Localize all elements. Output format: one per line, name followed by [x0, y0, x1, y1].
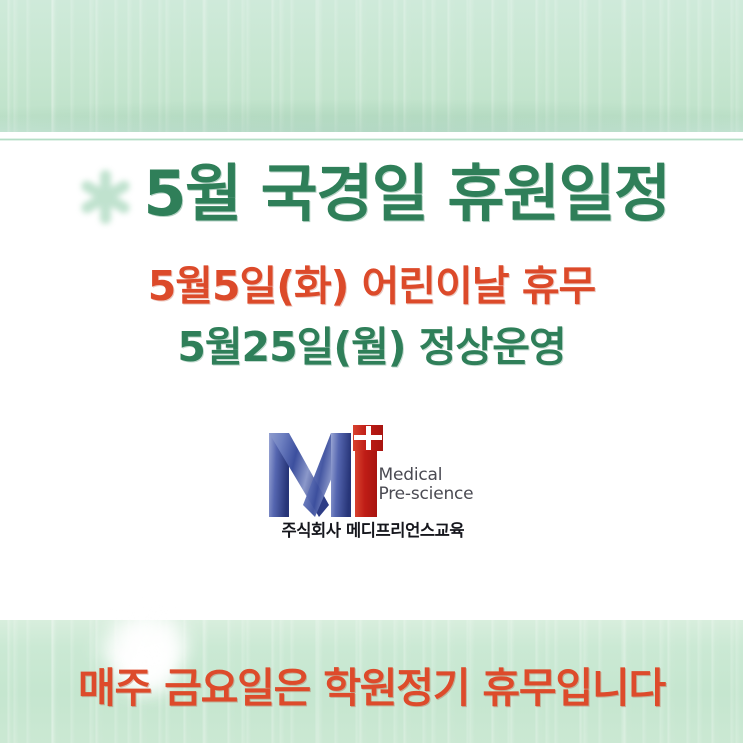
- banner-shade: [0, 72, 743, 132]
- holiday-notice-poster: 5월 국경일 휴원일정 5월5일(화) 어린이날 휴무 5월25일(월) 정상운…: [0, 0, 743, 743]
- asterisk-flower-icon: [73, 165, 137, 229]
- company-logo: Medical Pre-science 주식회사 메디프리언스교육: [0, 425, 743, 540]
- schedule-line-open: 5월25일(월) 정상운영: [0, 327, 743, 368]
- poster-content: 5월 국경일 휴원일정 5월5일(화) 어린이날 휴무 5월25일(월) 정상운…: [0, 141, 743, 620]
- title-row: 5월 국경일 휴원일정: [0, 159, 743, 229]
- logo-wordmark: Medical Pre-science: [379, 466, 474, 504]
- page-title: 5월 국경일 휴원일정: [143, 163, 669, 225]
- logo-company-name: 주식회사 메디프리언스교육: [282, 517, 465, 541]
- banner-texture-streaks: [0, 0, 743, 132]
- top-banner: [0, 0, 743, 132]
- schedule-line-holiday: 5월5일(화) 어린이날 휴무: [0, 266, 743, 307]
- banner-texture-streaks-soft: [0, 0, 743, 132]
- weekly-closure-notice: 매주 금요일은 학원정기 휴무입니다: [0, 668, 743, 709]
- logo-mark-mi-icon: [267, 425, 387, 517]
- logo-word-medical: Medical: [379, 466, 474, 485]
- logo-word-prescience: Pre-science: [379, 485, 474, 504]
